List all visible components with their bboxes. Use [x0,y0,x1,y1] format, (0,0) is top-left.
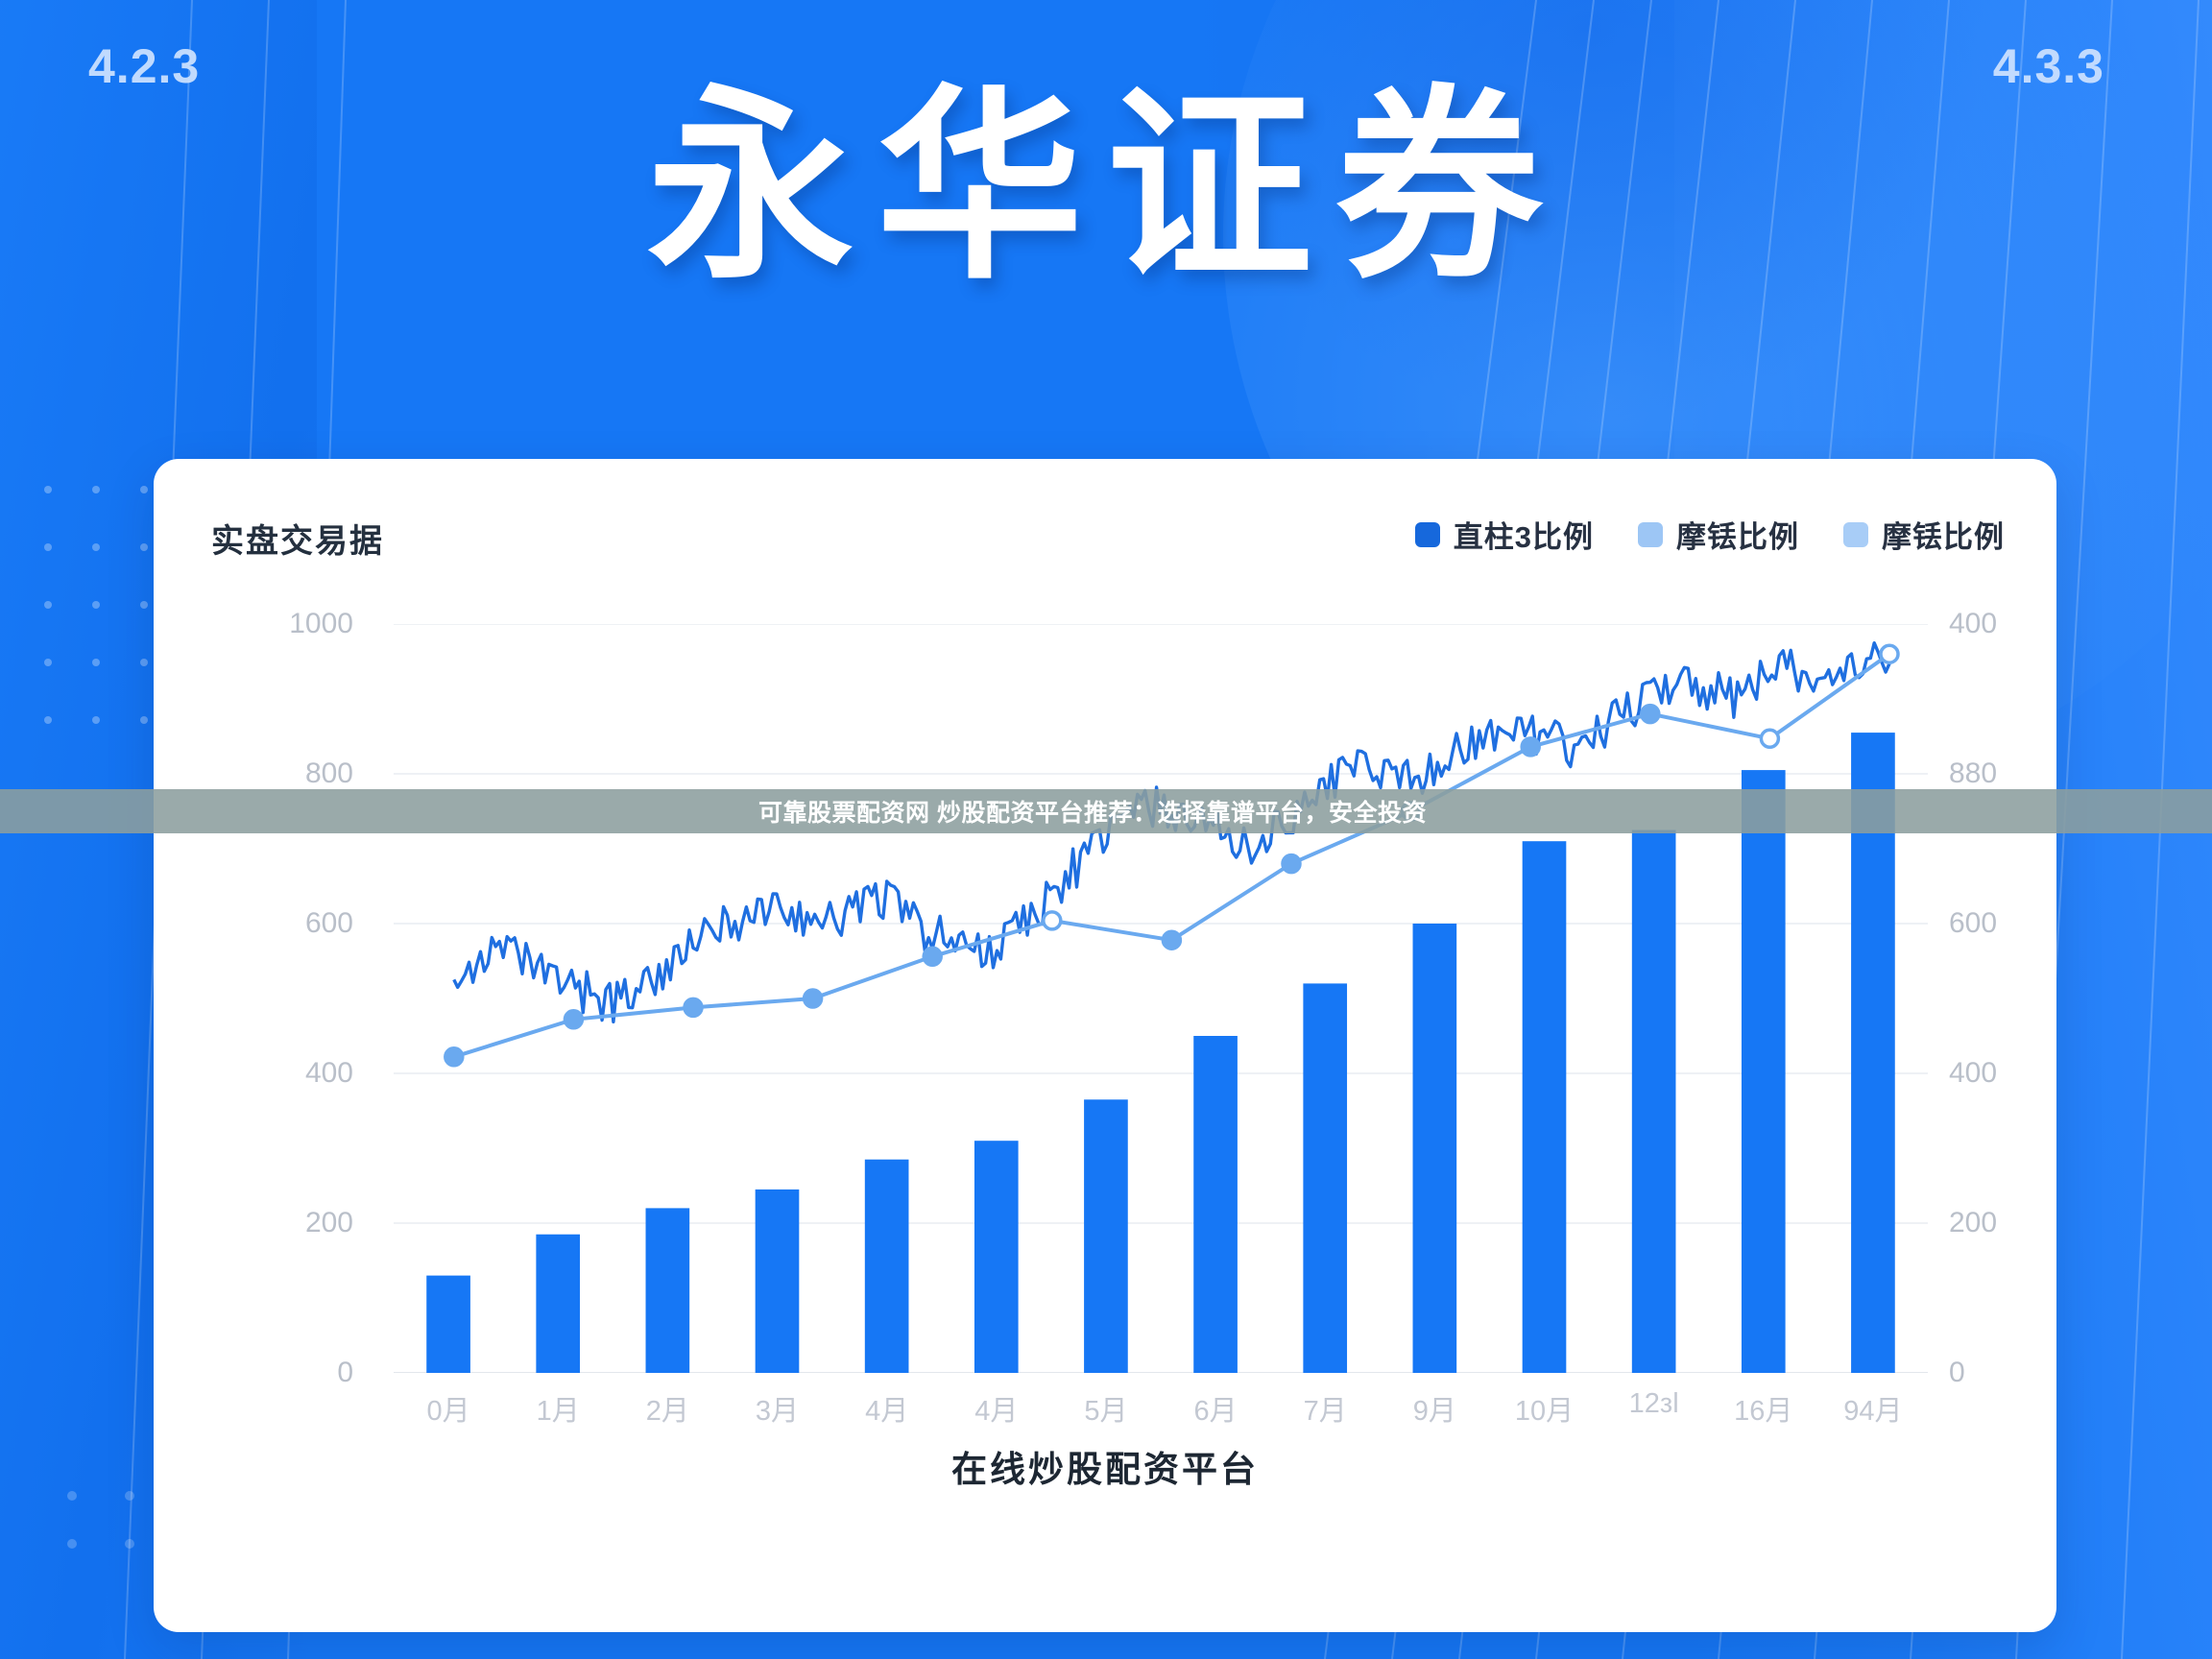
x-axis-tick: 6月 [1193,1388,1237,1429]
y-axis-tick-right: 400 [1949,608,2112,640]
bar[interactable] [1303,983,1347,1373]
bar[interactable] [536,1235,580,1373]
x-axis-title: 在线炒股配资平台 [154,1440,2056,1492]
legend-swatch-icon [1415,522,1440,547]
bar[interactable] [974,1141,1019,1373]
y-axis-tick-right: 600 [1949,907,2112,940]
y-axis-tick-left: 400 [190,1057,353,1090]
y-axis-tick-right: 880 [1949,757,2112,790]
bar[interactable] [1413,924,1457,1373]
bar[interactable] [1193,1036,1238,1373]
legend-item[interactable]: 摩铥比例 [1638,513,1799,556]
line-marker[interactable] [805,990,822,1007]
chart-title: 实盘交易据 [211,515,384,562]
x-axis-tick: 4月 [974,1388,1018,1429]
x-axis-tick: 1月 [537,1388,580,1429]
legend-label: 摩铥比例 [1676,513,1799,556]
legend-swatch-icon [1843,522,1868,547]
line-marker[interactable] [1522,738,1539,756]
x-axis-tick: 9月 [1413,1388,1456,1429]
line-marker[interactable] [1163,931,1180,949]
y-axis-tick-right: 200 [1949,1207,2112,1239]
legend-item[interactable]: 摩铥比例 [1843,513,2005,556]
x-axis-tick: 3月 [756,1388,799,1429]
y-axis-tick-left: 200 [190,1207,353,1239]
line-marker[interactable] [1642,706,1659,723]
y-axis-tick-left: 800 [190,757,353,790]
line-marker[interactable] [924,948,941,965]
line-marker[interactable] [1881,645,1898,662]
y-axis-tick-right: 400 [1949,1057,2112,1090]
legend-swatch-icon [1638,522,1663,547]
chart-svg [394,624,1928,1373]
page-root: 4.2.3 4.3.3 永华证券 实盘交易据 直柱3比例 摩铥比例 摩铥比例 1… [0,0,2212,1659]
bar[interactable] [1632,830,1676,1374]
gridlines [394,624,1928,1373]
line-marker[interactable] [1761,730,1778,747]
y-axis-tick-left: 600 [190,907,353,940]
line-marker[interactable] [1044,912,1061,929]
bar[interactable] [756,1190,800,1373]
legend-item[interactable]: 直柱3比例 [1415,513,1594,556]
y-axis-tick-right: 0 [1949,1357,2112,1389]
x-axis-tick: 4月 [865,1388,908,1429]
bar[interactable] [1523,841,1567,1373]
legend-label: 摩铥比例 [1882,513,2005,556]
x-axis-tick: 5月 [1084,1388,1127,1429]
line-marker[interactable] [1283,855,1300,873]
plot-area [394,624,1928,1373]
legend-label: 直柱3比例 [1454,513,1594,556]
y-axis-tick-left: 1000 [190,608,353,640]
x-axis-tick: 0月 [426,1388,469,1429]
line-marker[interactable] [445,1048,463,1066]
x-axis-tick: 12зl [1629,1388,1679,1420]
y-axis-tick-left: 0 [190,1357,353,1389]
bar[interactable] [865,1160,909,1373]
overlay-banner-text: 可靠股票配资网 炒股配资平台推荐：选择靠谱平台，安全投资 [758,794,1427,829]
x-axis-tick: 94月 [1843,1388,1902,1429]
bar[interactable] [426,1276,470,1373]
overlay-banner: 可靠股票配资网 炒股配资平台推荐：选择靠谱平台，安全投资 [0,789,2212,833]
line-marker[interactable] [565,1011,582,1028]
x-axis-tick: 10月 [1515,1388,1574,1429]
line-marker[interactable] [685,998,702,1016]
brand-title: 永华证券 [0,79,2212,296]
bar[interactable] [1742,770,1786,1373]
chart-card: 实盘交易据 直柱3比例 摩铥比例 摩铥比例 1000 800 600 400 2… [154,459,2056,1632]
x-axis-tick: 7月 [1304,1388,1347,1429]
x-axis-tick: 16月 [1734,1388,1792,1429]
bar[interactable] [646,1208,690,1373]
chart-legend: 直柱3比例 摩铥比例 摩铥比例 [1415,513,2005,556]
bar[interactable] [1084,1099,1128,1373]
smooth-line-markers [445,645,1898,1066]
x-axis-tick: 2月 [646,1388,689,1429]
